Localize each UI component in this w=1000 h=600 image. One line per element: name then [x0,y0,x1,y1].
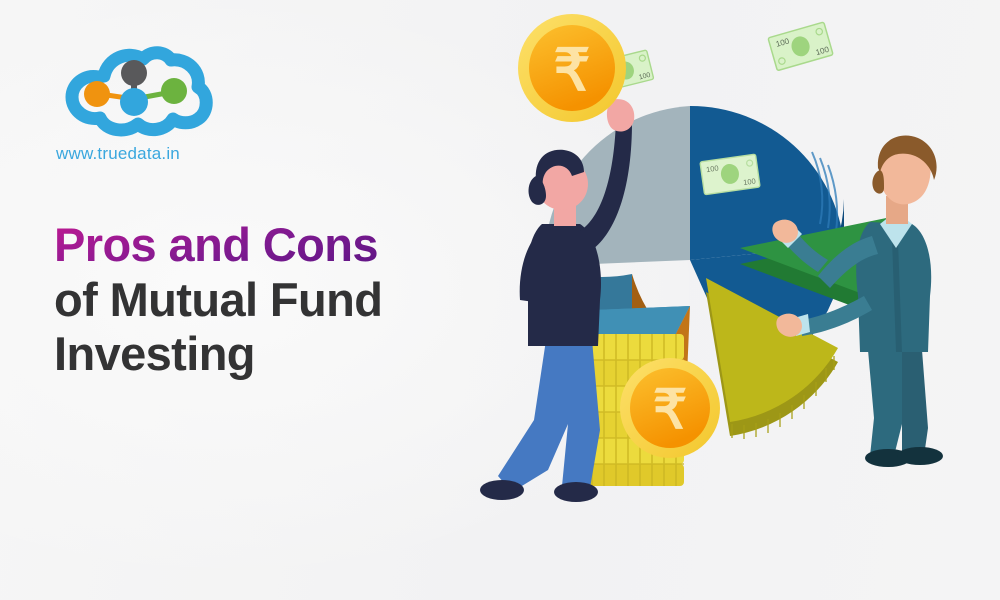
truedata-cloud-network-logo-icon [52,46,214,148]
mutual-fund-illustration: 100 100 100 100 100 100 [450,0,1000,600]
rupee-coin-upper: ₹ [518,14,626,122]
poster-canvas: www.truedata.in Pros and Cons of Mutual … [0,0,1000,600]
svg-text:100: 100 [743,176,757,187]
svg-text:100: 100 [706,164,720,175]
rupee-symbol-lower: ₹ [653,380,687,440]
truedata-logo[interactable] [52,46,212,146]
rupee-coin-lower: ₹ [620,358,720,458]
brand-url[interactable]: www.truedata.in [56,144,180,164]
headline-line-1: Pros and Cons [54,218,378,273]
headline-line-3: Investing [54,327,514,382]
rupee-symbol-upper: ₹ [554,38,591,103]
pie-chart-scene-svg: 100 100 100 100 100 100 [450,0,1000,600]
page-title: Pros and Cons of Mutual Fund Investing [54,218,514,382]
banknote-on-blue-slice: 100 100 [700,154,760,194]
headline-line-2: of Mutual Fund [54,273,514,328]
banknote-top-right: 100 100 [768,22,833,71]
